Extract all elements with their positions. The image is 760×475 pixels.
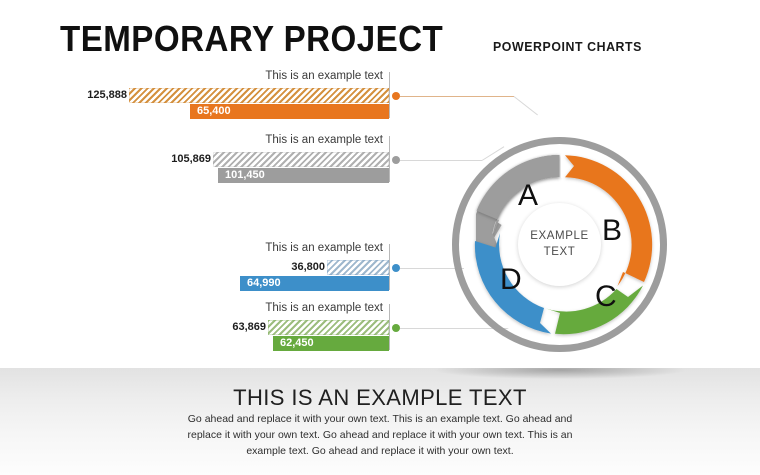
bar-group-c-label: This is an example text — [250, 242, 383, 254]
bar-c-target-value: 36,800 — [291, 262, 325, 273]
slide: TEMPORARY PROJECT POWERPOINT CHARTS This… — [0, 0, 760, 475]
connector-dot-c — [392, 264, 400, 272]
page-subtitle: POWERPOINT CHARTS — [493, 39, 642, 54]
bar-group-d-axis — [389, 304, 390, 350]
donut-chart[interactable]: EXAMPLE TEXT A B C D — [452, 137, 667, 352]
bar-a-target[interactable]: 125,888 — [129, 88, 389, 103]
bar-b-actual-value: 101,450 — [225, 170, 265, 181]
bar-d-target[interactable]: 63,869 — [268, 320, 389, 335]
bar-chart: This is an example text 125,888 65,400 T… — [0, 70, 400, 365]
footer-body: Go ahead and replace it with your own te… — [180, 412, 580, 459]
donut-letter-d: D — [500, 263, 522, 297]
bar-a-actual-value: 65,400 — [197, 106, 231, 117]
connector-dot-d — [392, 324, 400, 332]
bar-group-a-axis — [389, 72, 390, 118]
connector-dot-a — [392, 92, 400, 100]
bar-b-target[interactable]: 105,869 — [213, 152, 389, 167]
donut-letter-b: B — [602, 214, 622, 248]
bar-group-b-label: This is an example text — [250, 134, 383, 146]
donut-center-line2: TEXT — [544, 245, 576, 261]
bar-group-c-axis — [389, 244, 390, 290]
bar-group-d-label: This is an example text — [250, 302, 383, 314]
connector-diagonal-a — [514, 96, 538, 115]
bar-group-b-axis — [389, 136, 390, 182]
donut-letter-c: C — [595, 280, 617, 314]
page-title: TEMPORARY PROJECT — [60, 18, 443, 60]
bar-group-a-label: This is an example text — [250, 70, 383, 82]
connector-line-a — [400, 96, 514, 97]
bar-a-actual[interactable]: 65,400 — [190, 104, 389, 119]
donut-letter-a: A — [518, 179, 538, 213]
bar-c-target[interactable]: 36,800 — [327, 260, 389, 275]
bar-c-actual-value: 64,990 — [247, 278, 281, 289]
bar-b-target-value: 105,869 — [171, 154, 211, 165]
bar-d-actual-value: 62,450 — [280, 338, 314, 349]
bar-c-actual[interactable]: 64,990 — [240, 276, 389, 291]
bar-d-target-value: 63,869 — [232, 322, 266, 333]
slide-header: TEMPORARY PROJECT POWERPOINT CHARTS — [60, 18, 649, 60]
bar-d-actual[interactable]: 62,450 — [273, 336, 389, 351]
bar-b-actual[interactable]: 101,450 — [218, 168, 389, 183]
bar-a-target-value: 125,888 — [87, 90, 127, 101]
donut-center-hub: EXAMPLE TEXT — [518, 203, 601, 286]
donut-center-line1: EXAMPLE — [530, 229, 589, 245]
connector-dot-b — [392, 156, 400, 164]
footer-title: THIS IS AN EXAMPLE TEXT — [0, 385, 760, 411]
